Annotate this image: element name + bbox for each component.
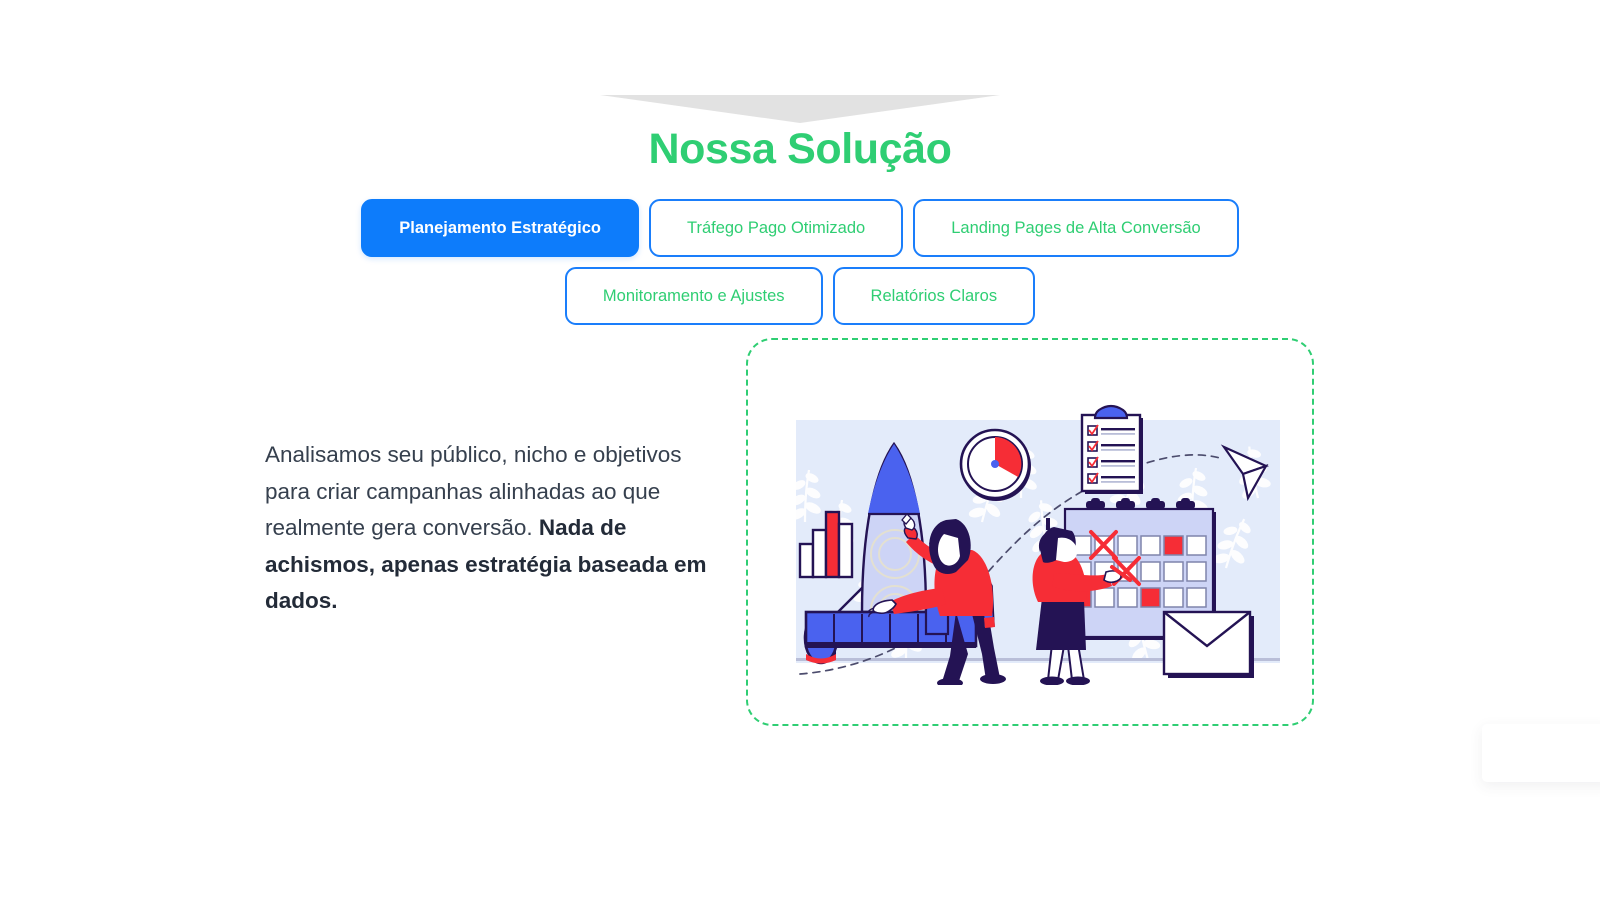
offscreen-floating-widget[interactable] — [1482, 724, 1600, 782]
tab-monitoramento-e-ajustes[interactable]: Monitoramento e Ajustes — [565, 267, 823, 325]
illustration-frame — [746, 338, 1314, 726]
tab-planejamento-estrategico[interactable]: Planejamento Estratégico — [361, 199, 639, 257]
solution-description: Analisamos seu público, nicho e objetivo… — [265, 437, 717, 620]
clipboard-checklist-icon — [1082, 406, 1143, 494]
tab-row-2: Monitoramento e Ajustes Relatórios Claro… — [565, 267, 1035, 325]
envelope-icon — [1164, 612, 1254, 678]
solution-section-page: Nossa Solução Planejamento Estratégico T… — [0, 0, 1600, 900]
tab-trafego-pago-otimizado[interactable]: Tráfego Pago Otimizado — [649, 199, 903, 257]
page-title: Nossa Solução — [0, 125, 1600, 174]
clock-pie-icon — [961, 430, 1031, 501]
tab-relatorios-claros[interactable]: Relatórios Claros — [833, 267, 1036, 325]
tab-row-1: Planejamento Estratégico Tráfego Pago Ot… — [361, 199, 1238, 257]
chevron-down-ornament-icon — [600, 95, 1000, 123]
tab-list: Planejamento Estratégico Tráfego Pago Ot… — [0, 199, 1600, 325]
illustration-canvas — [796, 402, 1280, 685]
tab-landing-pages-de-alta-conversao[interactable]: Landing Pages de Alta Conversão — [913, 199, 1239, 257]
